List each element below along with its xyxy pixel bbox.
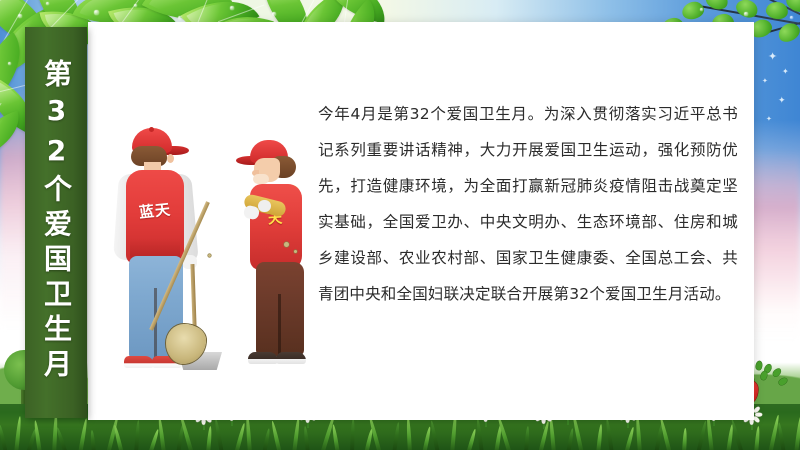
debris-speck: [208, 254, 211, 257]
chin: [253, 174, 269, 184]
page-title: 第32个爱国卫生月: [42, 59, 70, 384]
content-card: 今年4月是第32个爱国卫生月。为深入贯彻落实习近平总书记系列重要讲话精神，大力开…: [88, 22, 754, 420]
ear: [167, 154, 174, 163]
pant-seam: [278, 294, 281, 356]
right-shoe: [276, 352, 306, 364]
body-paragraph: 今年4月是第32个爱国卫生月。为深入贯彻落实习近平总书记系列重要讲话精神，大力开…: [318, 96, 738, 312]
debris-speck: [294, 250, 297, 253]
sparkle-icon: ✦: [768, 52, 777, 63]
left-shoe: [124, 356, 154, 368]
sparkle-icon: ✦: [778, 96, 786, 105]
sparkle-icon: ✦: [782, 68, 789, 76]
sparkle-icon: ✦: [762, 78, 768, 85]
slide-canvas: ✦ ✦ ✦ ✦ ✦ 今年4月是第32个爱国卫生月。为深入贯彻落实习近平总书记系列…: [0, 0, 800, 450]
left-shoe: [248, 352, 278, 364]
cap-button: [149, 127, 154, 132]
illustration-sweeping-volunteer: 天: [228, 140, 336, 380]
debris-speck: [284, 242, 289, 247]
upper-glove: [258, 200, 271, 212]
vertical-title-panel: 第32个爱国卫生月: [25, 27, 87, 418]
sparkle-icon: ✦: [766, 116, 772, 123]
